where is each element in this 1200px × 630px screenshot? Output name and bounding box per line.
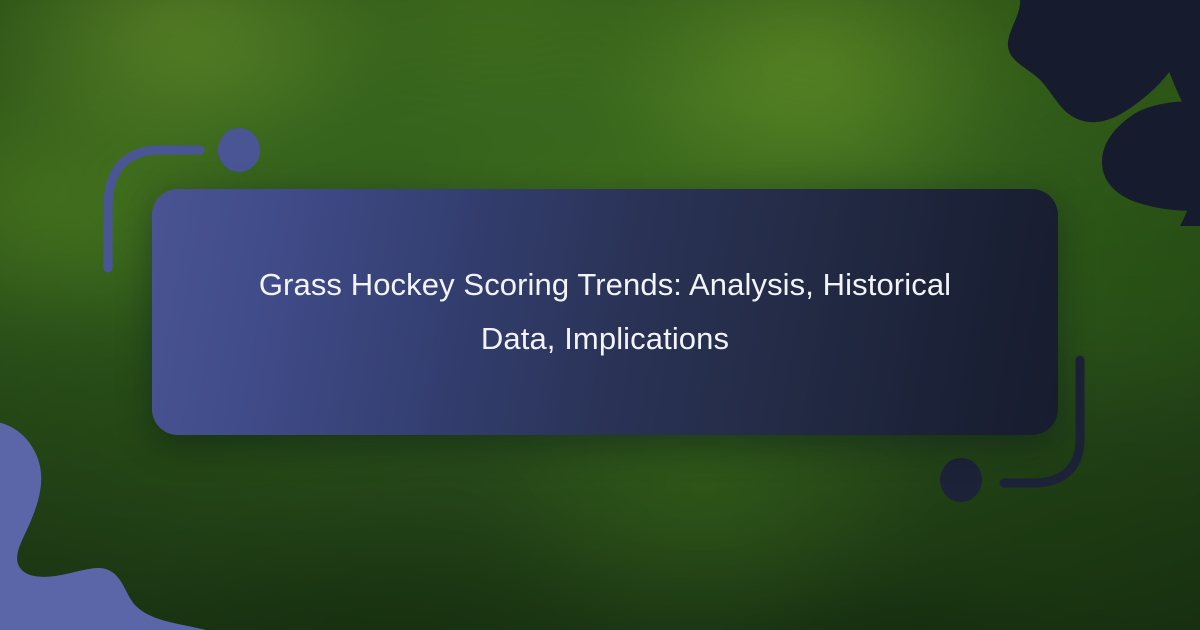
title-card: Grass Hockey Scoring Trends: Analysis, H… xyxy=(152,189,1058,435)
page-title: Grass Hockey Scoring Trends: Analysis, H… xyxy=(225,258,985,366)
poster-canvas: Grass Hockey Scoring Trends: Analysis, H… xyxy=(0,0,1200,630)
